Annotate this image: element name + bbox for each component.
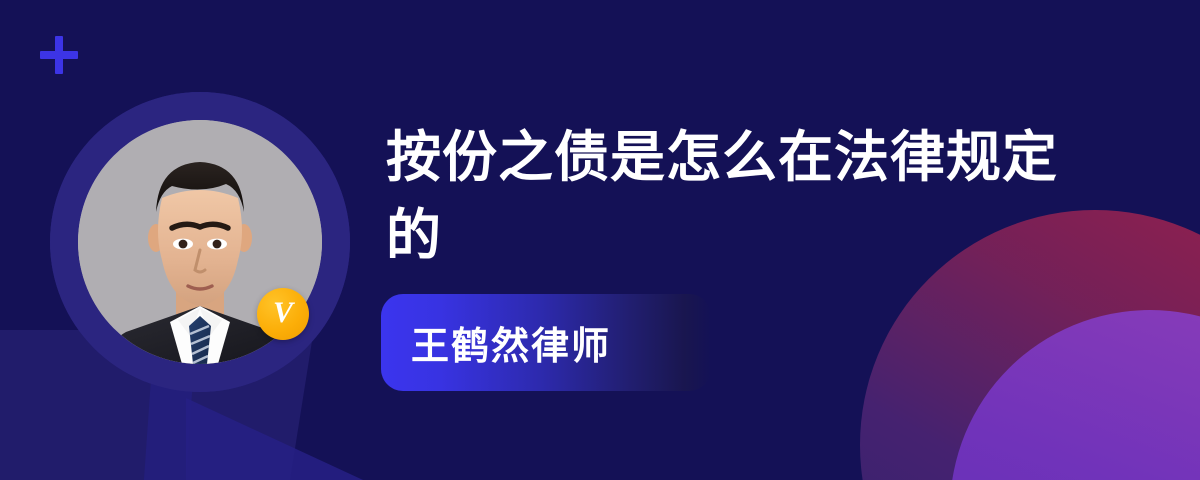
lawyer-article-banner: V 按份之债是怎么在法律规定的 王鹤然律师 [0, 0, 1200, 480]
lawyer-name-badge[interactable]: 王鹤然律师 [381, 294, 711, 391]
plus-icon [40, 36, 78, 74]
avatar[interactable]: V [50, 92, 350, 392]
plus-icon-vertical-bar [55, 36, 63, 74]
lawyer-name-label: 王鹤然律师 [381, 315, 611, 370]
verified-badge-glyph: V [273, 298, 293, 328]
verified-badge-icon: V [257, 288, 309, 340]
headline-block: 按份之债是怎么在法律规定的 [386, 118, 1086, 274]
decorative-triangle-wedge [186, 398, 376, 480]
page-title: 按份之债是怎么在法律规定的 [386, 118, 1066, 274]
decorative-gradient-blob-inner [950, 310, 1200, 480]
